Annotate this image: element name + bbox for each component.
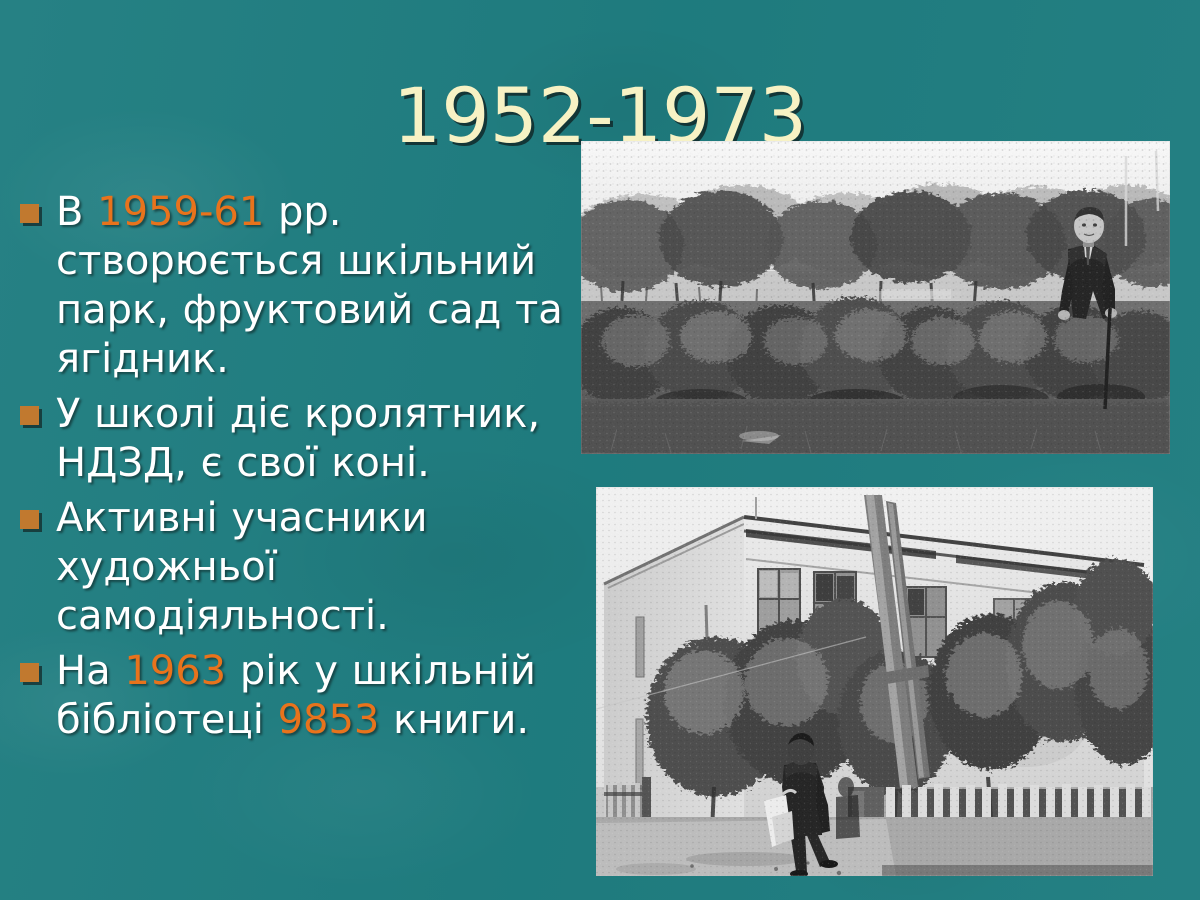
square-bullet-icon (20, 406, 39, 425)
list-item: Активні учасники художньої самодіяльност… (8, 494, 570, 641)
square-bullet-icon (20, 204, 39, 223)
bullet-text: Активні учасники художньої самодіяльност… (56, 494, 570, 641)
bullet-segment: В (56, 189, 97, 235)
square-bullet-icon (20, 663, 39, 682)
bullet-segment: книги. (379, 697, 529, 743)
bullet-highlight: 9853 (278, 697, 380, 743)
bullet-list: В 1959-61 рр. створюється шкільний парк,… (8, 188, 570, 751)
bullet-text: У школі діє кролятник, НДЗД, є свої коні… (56, 390, 570, 488)
list-item: У школі діє кролятник, НДЗД, є свої коні… (8, 390, 570, 488)
bullet-highlight: 1959-61 (97, 189, 264, 235)
bullet-highlight: 1963 (124, 648, 226, 694)
list-item: На 1963 рік у шкільній бібліотеці 9853 к… (8, 647, 570, 745)
bullet-text: На 1963 рік у шкільній бібліотеці 9853 к… (56, 647, 570, 745)
bullet-text: В 1959-61 рр. створюється шкільний парк,… (56, 188, 570, 384)
list-item: В 1959-61 рр. створюється шкільний парк,… (8, 188, 570, 384)
school-building-photo (596, 487, 1153, 876)
presentation-slide: 1952-1973 В 1959-61 рр. створюється шкіл… (0, 0, 1200, 900)
orchard-photo-graphic (581, 141, 1170, 454)
school-building-photo-graphic (596, 487, 1153, 876)
bullet-segment: У школі діє кролятник, НДЗД, є свої коні… (56, 391, 540, 486)
orchard-photo (581, 141, 1170, 454)
square-bullet-icon (20, 510, 39, 529)
bullet-segment: На (56, 648, 124, 694)
bullet-segment: Активні учасники художньої самодіяльност… (56, 495, 428, 639)
